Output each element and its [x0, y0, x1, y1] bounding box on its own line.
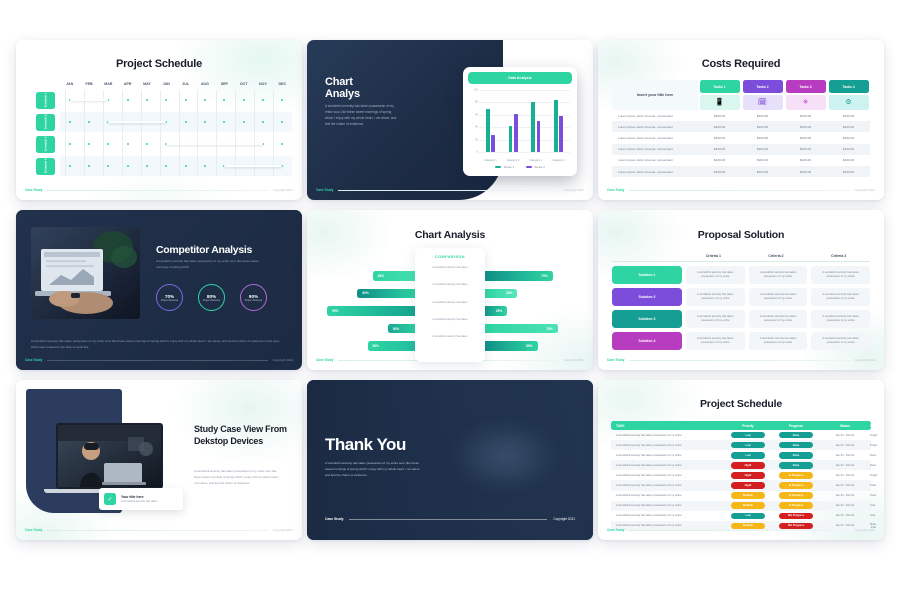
gantt-dot: [79, 143, 98, 145]
gantt-dot: [118, 99, 137, 101]
task-column-header: Tasks 2: [741, 80, 784, 93]
mobile-icon: 📱: [700, 95, 740, 110]
gantt-row-tag[interactable]: Schedule 3: [36, 136, 55, 153]
priority-cell: Low: [724, 442, 772, 449]
gantt-row-tag[interactable]: Schedule 4: [36, 158, 55, 175]
bar-right[interactable]: 35%: [482, 289, 517, 299]
gantt-dot: [137, 143, 156, 145]
progress-cell: Done: [772, 462, 820, 469]
table-row[interactable]: A wonderful serenity has taken possessio…: [611, 501, 871, 511]
progress-badge[interactable]: Done: [779, 462, 813, 469]
gantt-cells: [60, 165, 292, 167]
footer-right-label: Copyright 2021: [273, 358, 293, 362]
stat-circle[interactable]: 80%Project Success: [198, 284, 225, 311]
proposal-cell: A wonderful serenity has taken possessio…: [686, 266, 745, 284]
who-cell: Projec: [870, 474, 878, 477]
stat-circle[interactable]: 70%Project Success: [156, 284, 183, 311]
title-line-2: Analys: [325, 88, 360, 100]
info-card-subtitle: A wonderful serenity has taken: [121, 500, 158, 503]
subtitle-text: A wonderful serenity has taken possessio…: [156, 259, 261, 270]
page-title: Chart Analysis: [307, 229, 593, 241]
progress-badge[interactable]: In Progress: [779, 492, 813, 499]
priority-cell: Medium: [724, 502, 772, 509]
gantt-dot: [215, 99, 234, 101]
legend-swatch: [495, 166, 501, 168]
task-buttons-row: Tasks 1Tasks 2Tasks 3Tasks 4: [698, 80, 870, 93]
gantt-cells: [60, 143, 292, 145]
bar[interactable]: [486, 109, 490, 152]
header-spacer: [612, 254, 682, 258]
proposal-row: Solution 4A wonderful serenity has taken…: [612, 332, 870, 350]
month-label: SEP: [215, 82, 234, 86]
title-line-1: Chart: [325, 76, 353, 88]
status-cell: Jan 03 - Feb 01: [820, 454, 870, 457]
footer-divider: [47, 360, 267, 361]
bar-left[interactable]: 45%: [373, 271, 418, 281]
task-cell: A wonderful serenity has taken possessio…: [611, 484, 724, 487]
task-cell: A wonderful serenity has taken possessio…: [611, 454, 724, 457]
gantt-dot: [99, 165, 118, 167]
gantt-bar[interactable]: [108, 121, 166, 123]
column-header: Priority: [724, 424, 772, 428]
stat-circle[interactable]: 90%Project Success: [240, 284, 267, 311]
footer-right-label: Copyright 2021: [855, 358, 875, 362]
gantt-row-label: Schedule 2: [44, 115, 48, 130]
costs-table-header: Insert your title here Tasks 1Tasks 2Tas…: [612, 80, 870, 110]
table-row[interactable]: Lorem ipsum dolor sit amet, consectetur$…: [612, 166, 870, 177]
month-label: NOV: [253, 82, 272, 86]
bar-chart: 020406080100 Category 1Category 2Categor…: [470, 90, 570, 162]
slide-costs-required[interactable]: Costs Required Insert your title here Ta…: [598, 40, 884, 200]
bar-left[interactable]: 50%: [368, 341, 419, 351]
laptop-screen-photo: [58, 425, 161, 487]
priority-badge[interactable]: Hight: [731, 472, 765, 479]
stat-label: Project Success: [161, 299, 178, 302]
gantt-month-header: JANFEBMARAPRMAYJUNJULAUGSEPOCTNOVDEC: [60, 82, 292, 86]
task-icon-cell: 📱: [698, 93, 741, 110]
settings-icon: ⚙: [829, 95, 869, 110]
slide-chart-analysis-comparison[interactable]: Chart Analysis COMPARISON A wonderful se…: [307, 210, 593, 370]
proposal-row: Solution 3A wonderful serenity has taken…: [612, 310, 870, 328]
body-text: A wonderful serenity has taken possessio…: [325, 460, 422, 478]
bar-group: [479, 90, 502, 152]
slide-footer: Case Study Copyright 2021: [25, 526, 293, 534]
page-title: Study Case View From Dekstop Devices: [194, 424, 296, 447]
table-row[interactable]: Lorem ipsum dolor sit amet, consectetur$…: [612, 155, 870, 166]
column-header: Status: [820, 424, 870, 428]
page-title: Thank You: [325, 435, 406, 455]
status-cell: Jan 03 - Feb 01: [820, 484, 870, 487]
bar-group: [525, 90, 548, 152]
y-tick-label: 100: [474, 89, 478, 92]
proposal-cell: A wonderful serenity has taken possessio…: [749, 332, 808, 350]
gantt-dot: [273, 143, 292, 145]
slide-competitor-analysis[interactable]: Competitor Analysis A wonderful serenity…: [16, 210, 302, 370]
gantt-dot: [273, 99, 292, 101]
priority-badge[interactable]: Low: [731, 513, 765, 520]
footer-left-label: Case Study: [607, 188, 624, 192]
proposal-cell: A wonderful serenity has taken possessio…: [811, 310, 870, 328]
info-card[interactable]: ✓ Your title here A wonderful serenity h…: [99, 488, 183, 510]
progress-cell: In Progress: [772, 482, 820, 489]
gantt-dot: [157, 99, 176, 101]
bar-left[interactable]: 30%: [388, 324, 418, 334]
gantt-row-label: Schedule 4: [44, 159, 48, 174]
footer-divider: [47, 190, 267, 191]
table-row[interactable]: Lorem ipsum dolor sit amet, consectetur$…: [612, 132, 870, 143]
schedule-table-header: TASKPriorityProgressStatusWho?: [611, 421, 871, 430]
criteria-header: Criteria 1: [682, 254, 745, 258]
gantt-dot: [60, 165, 79, 167]
priority-badge[interactable]: Medium: [731, 502, 765, 509]
status-cell: Jan 03 - Feb 01: [820, 434, 870, 437]
month-label: APR: [118, 82, 137, 86]
page-title: Chart Analys: [325, 76, 360, 101]
gantt-chart: JANFEBMARAPRMAYJUNJULAUGSEPOCTNOVDEC Sch…: [36, 82, 292, 182]
progress-cell: In Progress: [772, 492, 820, 499]
solution-tag[interactable]: Solution 3: [612, 310, 682, 328]
criteria-header: Criteria 2: [745, 254, 808, 258]
gantt-bar[interactable]: [70, 99, 109, 101]
slide-footer: Case Study Copyright 2021: [607, 186, 875, 194]
task-cell: A wonderful serenity has taken possessio…: [611, 504, 724, 507]
corner-label: Insert your title here: [612, 80, 698, 110]
task-button[interactable]: Tasks 3: [786, 80, 826, 93]
proposal-cell: A wonderful serenity has taken possessio…: [686, 310, 745, 328]
table-row[interactable]: A wonderful serenity has taken possessio…: [611, 470, 871, 480]
bar[interactable]: [554, 100, 558, 152]
laptop-photo: [31, 227, 140, 319]
status-cell: Jan 03 - Feb 01: [820, 504, 870, 507]
comparison-row-labels: A wonderful serenity has takenA wonderfu…: [415, 259, 485, 346]
who-cell: Tekni: [870, 494, 876, 497]
stat-label: Project Success: [203, 299, 220, 302]
status-cell: Jan 03 - Feb 01: [820, 514, 870, 517]
progress-cell: In Progress: [772, 502, 820, 509]
gantt-dot: [118, 143, 137, 145]
priority-badge[interactable]: Hight: [731, 462, 765, 469]
table-row[interactable]: A wonderful serenity has taken possessio…: [611, 460, 871, 470]
who-cell: Devo: [870, 464, 876, 467]
proposal-table-body: Solution 1A wonderful serenity has taken…: [612, 266, 870, 350]
gantt-dot: [253, 121, 272, 123]
slide-project-schedule-table[interactable]: Project Schedule TASKPriorityProgressSta…: [598, 380, 884, 540]
slide-footer: Case Study Copyright 2021: [316, 186, 584, 194]
task-button[interactable]: Tasks 2: [743, 80, 783, 93]
proposal-row: Solution 2A wonderful serenity has taken…: [612, 288, 870, 306]
month-label: AUG: [195, 82, 214, 86]
task-cell: A wonderful serenity has taken possessio…: [611, 514, 724, 517]
solution-tag[interactable]: Solution 2: [612, 288, 682, 306]
progress-badge[interactable]: In Progress: [779, 502, 813, 509]
legend-label: Series 1: [504, 165, 514, 169]
comparison-card: COMPARISON A wonderful serenity has take…: [415, 248, 485, 362]
chart-card: Data Analysis 020406080100 Category 1Cat…: [463, 67, 577, 176]
priority-badge[interactable]: Medium: [731, 492, 765, 499]
stat-circles: 70%Project Success80%Project Success90%P…: [156, 284, 267, 311]
solution-tag[interactable]: Solution 1: [612, 266, 682, 284]
info-card-text: Your title here A wonderful serenity has…: [121, 495, 158, 504]
task-cell: A wonderful serenity has taken possessio…: [611, 474, 724, 477]
background-blur-accent: [435, 408, 575, 504]
footer-left-label: Case Study: [607, 358, 624, 362]
progress-badge[interactable]: Done: [779, 432, 813, 439]
footer-right-label: Copyright 2021: [855, 188, 875, 192]
bar[interactable]: [491, 135, 495, 152]
who-cell: Indo: [870, 514, 875, 517]
month-label: DEC: [273, 82, 292, 86]
task-icon-cell: ⚙: [827, 93, 870, 110]
who-cell: Devo: [870, 454, 876, 457]
page-title: Project Schedule: [16, 58, 302, 70]
footer-left-label: Case Study: [325, 517, 343, 521]
bar-left[interactable]: 60%: [357, 289, 418, 299]
gear-icon: ✳: [786, 95, 826, 110]
y-axis-ticks: 020406080100: [470, 90, 479, 152]
gantt-dot: [118, 165, 137, 167]
gantt-dot: [137, 99, 156, 101]
chart-card-title: Data Analysis: [468, 72, 572, 84]
gantt-row-label: Schedule 1: [44, 93, 48, 108]
gantt-dot: [79, 121, 98, 123]
priority-cell: Low: [724, 513, 772, 520]
status-cell: Jan 03 - Feb 01: [820, 474, 870, 477]
bar[interactable]: [531, 102, 535, 152]
table-row[interactable]: Lorem ipsum dolor sit amet, consectetur$…: [612, 121, 870, 132]
bar-right[interactable]: 70%: [482, 271, 553, 281]
gantt-bar[interactable]: [224, 165, 282, 167]
table-row[interactable]: Lorem ipsum dolor sit amet, consectetur$…: [612, 110, 870, 121]
schedule-table: TASKPriorityProgressStatusWho? A wonderf…: [611, 421, 871, 531]
column-header: Who?: [870, 424, 879, 428]
proposal-cell: A wonderful serenity has taken possessio…: [749, 266, 808, 284]
solution-tag[interactable]: Solution 4: [612, 332, 682, 350]
gantt-row-tag[interactable]: Schedule 1: [36, 92, 55, 109]
progress-badge[interactable]: Done: [779, 442, 813, 449]
progress-badge[interactable]: In Progress: [779, 482, 813, 489]
table-row[interactable]: A wonderful serenity has taken possessio…: [611, 511, 871, 521]
progress-badge[interactable]: In Progress: [779, 472, 813, 479]
footer-left-label: Case Study: [316, 358, 333, 362]
y-tick-label: 0: [477, 151, 478, 154]
gantt-dot: [176, 99, 195, 101]
body-text: A wonderful serenity has taken possessio…: [194, 469, 280, 486]
x-tick-label: Category 1: [479, 159, 502, 162]
gantt-dot: [195, 121, 214, 123]
priority-cell: Medium: [724, 492, 772, 499]
task-cell: A wonderful serenity has taken possessio…: [611, 464, 724, 467]
gantt-dot: [195, 99, 214, 101]
gantt-dot: [60, 143, 79, 145]
header-columns: Tasks 1Tasks 2Tasks 3Tasks 4 📱🗓✳⚙: [698, 80, 870, 110]
proposal-cell: A wonderful serenity has taken possessio…: [686, 288, 745, 306]
who-cell: Tekni: [870, 484, 876, 487]
slide-footer: Case Study Copyright 2021: [25, 356, 293, 364]
gantt-dot: [157, 165, 176, 167]
who-cell: Projec: [870, 444, 878, 447]
priority-cell: Low: [724, 452, 772, 459]
progress-cell: Done: [772, 442, 820, 449]
panel-body-text: A wonderful serenity has taken possessio…: [325, 104, 399, 128]
proposal-cell: A wonderful serenity has taken possessio…: [749, 288, 808, 306]
bar[interactable]: [514, 114, 518, 152]
gantt-dot: [176, 121, 195, 123]
page-title: Project Schedule: [598, 398, 884, 410]
footer-divider: [629, 530, 849, 531]
comparison-label: A wonderful serenity has taken: [415, 259, 485, 276]
task-cell: A wonderful serenity has taken possessio…: [611, 434, 724, 437]
slide-footer: Case Study Copyright 2021: [25, 186, 293, 194]
bar-group: [547, 90, 570, 152]
footer-divider: [47, 530, 267, 531]
month-label: OCT: [234, 82, 253, 86]
footer-paragraph: A wonderful serenity has taken possessio…: [31, 338, 282, 350]
gantt-row-label: Schedule 3: [44, 137, 48, 152]
progress-badge[interactable]: Done: [779, 452, 813, 459]
footer-divider: [349, 519, 547, 520]
laptop-screen: [56, 423, 163, 489]
bar-right[interactable]: 55%: [482, 341, 538, 351]
gantt-dot: [79, 165, 98, 167]
footer-divider: [338, 190, 558, 191]
x-tick-label: Category 2: [502, 159, 525, 162]
bar[interactable]: [509, 126, 513, 152]
schedule-table-body: A wonderful serenity has taken possessio…: [611, 430, 871, 531]
task-column-header: Tasks 4: [827, 80, 870, 93]
x-tick-label: Category 4: [547, 159, 570, 162]
proposal-table-header: Criteria 1Criteria 2Criteria 3: [612, 254, 870, 262]
bar-right[interactable]: 25%: [482, 306, 507, 316]
table-row[interactable]: A wonderful serenity has taken possessio…: [611, 430, 871, 440]
task-column-header: Tasks 1: [698, 80, 741, 93]
bar-group: [502, 90, 525, 152]
status-cell: Jan 03 - Feb 01: [820, 444, 870, 447]
gantt-dot: [273, 121, 292, 123]
proposal-cell: A wonderful serenity has taken possessio…: [811, 266, 870, 284]
chart-legend: Series 1Series 2: [468, 165, 572, 169]
footer-right-label: Copyright 2021: [564, 188, 584, 192]
progress-badge[interactable]: Not Progress: [779, 513, 813, 520]
priority-badge[interactable]: Low: [731, 432, 765, 439]
month-label: FEB: [79, 82, 98, 86]
status-cell: Jan 03 - Feb 01: [820, 464, 870, 467]
page-title: Costs Required: [598, 58, 884, 70]
task-column-header: Tasks 3: [784, 80, 827, 93]
comparison-label: A wonderful serenity has taken: [415, 329, 485, 346]
gantt-cells: [60, 99, 292, 101]
footer-left-label: Case Study: [25, 188, 42, 192]
priority-badge[interactable]: Low: [731, 442, 765, 449]
progress-cell: Done: [772, 452, 820, 459]
proposal-cell: A wonderful serenity has taken possessio…: [749, 310, 808, 328]
costs-table: Insert your title here Tasks 1Tasks 2Tas…: [612, 80, 870, 177]
gantt-bar[interactable]: [166, 143, 263, 145]
slide-footer: Case Study Copyright 2021: [607, 356, 875, 364]
priority-cell: Hight: [724, 472, 772, 479]
calendar-icon: 🗓: [743, 95, 783, 110]
task-button[interactable]: Tasks 1: [700, 80, 740, 93]
y-tick-label: 60: [475, 113, 478, 116]
laptop-mockup: [56, 423, 163, 497]
who-cell: Indo: [870, 504, 875, 507]
priority-cell: Hight: [724, 482, 772, 489]
slide-footer: Case Study Copyright 2021: [607, 526, 875, 534]
x-axis-labels: Category 1Category 2Category 3Category 4: [479, 159, 570, 162]
footer-left-label: Case Study: [25, 358, 42, 362]
slide-deck-grid: Project Schedule JANFEBMARAPRMAYJUNJULAU…: [0, 0, 900, 600]
task-cell: A wonderful serenity has taken possessio…: [611, 494, 724, 497]
legend-swatch: [526, 166, 532, 168]
criteria-header: Criteria 3: [807, 254, 870, 258]
task-icon-cell: ✳: [784, 93, 827, 110]
proposal-cell: A wonderful serenity has taken possessio…: [811, 288, 870, 306]
task-icon-cell: 🗓: [741, 93, 784, 110]
legend-label: Series 2: [535, 165, 545, 169]
task-button[interactable]: Tasks 4: [829, 80, 869, 93]
bar-left[interactable]: 90%: [327, 306, 418, 316]
bar[interactable]: [559, 116, 563, 152]
column-header: TASK: [611, 424, 724, 428]
proposal-table: Criteria 1Criteria 2Criteria 3 Solution …: [612, 254, 870, 350]
table-row[interactable]: A wonderful serenity has taken possessio…: [611, 450, 871, 460]
gantt-row-tag[interactable]: Schedule 2: [36, 114, 55, 131]
bar[interactable]: [537, 121, 541, 152]
footer-divider: [629, 190, 849, 191]
slide-study-case-view[interactable]: ✓ Your title here A wonderful serenity h…: [16, 380, 302, 540]
slide-proposal-solution[interactable]: Proposal Solution Criteria 1Criteria 2Cr…: [598, 210, 884, 370]
legend-item[interactable]: Series 2: [526, 165, 545, 169]
slide-chart-analys[interactable]: Chart Analys A wonderful serenity has ta…: [307, 40, 593, 200]
progress-cell: In Progress: [772, 472, 820, 479]
table-row[interactable]: A wonderful serenity has taken possessio…: [611, 440, 871, 450]
priority-cell: Low: [724, 432, 772, 439]
y-tick-label: 80: [475, 101, 478, 104]
stat-label: Project Success: [245, 299, 262, 302]
table-row[interactable]: A wonderful serenity has taken possessio…: [611, 491, 871, 501]
legend-item[interactable]: Series 1: [495, 165, 514, 169]
gantt-cells: [60, 121, 292, 123]
slide-thank-you[interactable]: Thank You A wonderful serenity has taken…: [307, 380, 593, 540]
priority-badge[interactable]: Hight: [731, 482, 765, 489]
costs-table-body: Lorem ipsum dolor sit amet, consectetur$…: [612, 110, 870, 177]
month-label: JAN: [60, 82, 79, 86]
laptop-photo-illustration: [31, 227, 140, 319]
page-title: Competitor Analysis: [156, 244, 252, 256]
gantt-dot: [234, 99, 253, 101]
proposal-row: Solution 1A wonderful serenity has taken…: [612, 266, 870, 284]
priority-cell: Hight: [724, 462, 772, 469]
month-label: JUN: [157, 82, 176, 86]
column-header: Progress: [772, 424, 820, 428]
chart-bars: [479, 90, 570, 152]
proposal-cell: A wonderful serenity has taken possessio…: [811, 332, 870, 350]
footer-left-label: Case Study: [25, 528, 42, 532]
bar-right[interactable]: 75%: [482, 324, 558, 334]
table-row[interactable]: Lorem ipsum dolor sit amet, consectetur$…: [612, 144, 870, 155]
gantt-dot: [60, 121, 79, 123]
footer-right-label: Copyright 2021: [855, 528, 875, 532]
slide-project-schedule-gantt[interactable]: Project Schedule JANFEBMARAPRMAYJUNJULAU…: [16, 40, 302, 200]
proposal-cell: A wonderful serenity has taken possessio…: [686, 332, 745, 350]
progress-cell: Done: [772, 432, 820, 439]
y-tick-label: 20: [475, 138, 478, 141]
priority-badge[interactable]: Low: [731, 452, 765, 459]
gantt-dot: [215, 121, 234, 123]
footer-right-label: Copyright 2021: [273, 528, 293, 532]
gantt-dot: [195, 165, 214, 167]
table-row[interactable]: A wonderful serenity has taken possessio…: [611, 480, 871, 490]
comparison-label: A wonderful serenity has taken: [415, 311, 485, 328]
